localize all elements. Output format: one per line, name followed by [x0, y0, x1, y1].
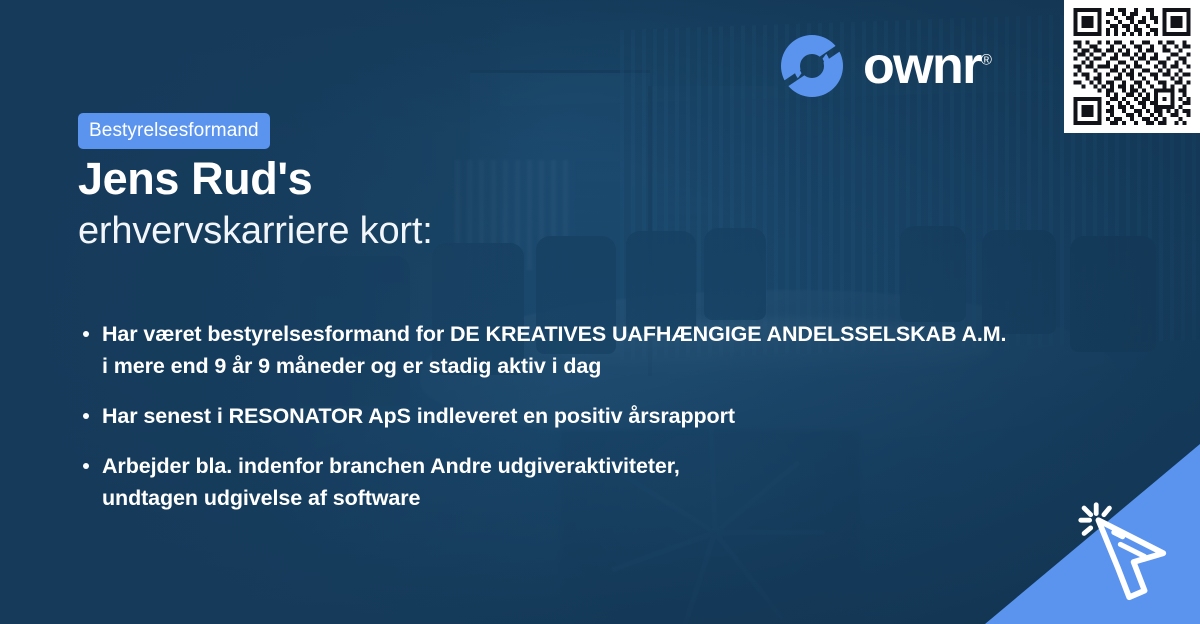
bullet-dot-icon [83, 463, 89, 469]
list-item: Har senest i RESONATOR ApS indleveret en… [78, 400, 1200, 432]
career-card: Bestyrelsesformand Jens Rud's erhvervska… [0, 0, 1200, 624]
bullet-dot-icon [83, 413, 89, 419]
cursor-corner [985, 444, 1200, 624]
page-subtitle: erhvervskarriere kort: [78, 211, 433, 253]
list-item-line: Arbejder bla. indenfor branchen Andre ud… [102, 454, 680, 478]
bullet-dot-icon [83, 331, 89, 337]
role-badge: Bestyrelsesformand [78, 113, 270, 149]
list-item-line: i mere end 9 år 9 måneder og er stadig a… [102, 350, 1200, 382]
registered-mark: ® [981, 52, 992, 69]
list-item-line: Har været bestyrelsesformand for DE KREA… [102, 322, 1006, 346]
ownr-logo[interactable]: ownr® [780, 34, 992, 98]
list-item-line: Har senest i RESONATOR ApS indleveret en… [102, 404, 735, 428]
click-cursor-icon [1072, 496, 1182, 606]
qr-code[interactable] [1064, 0, 1200, 133]
ownr-circle-mark-icon [780, 34, 844, 98]
ownr-wordmark: ownr® [863, 40, 992, 92]
qr-code-icon [1072, 8, 1192, 125]
list-item: Har været bestyrelsesformand for DE KREA… [78, 318, 1200, 382]
ownr-wordmark-text: ownr [863, 37, 981, 95]
page-title: Jens Rud's [78, 155, 312, 202]
